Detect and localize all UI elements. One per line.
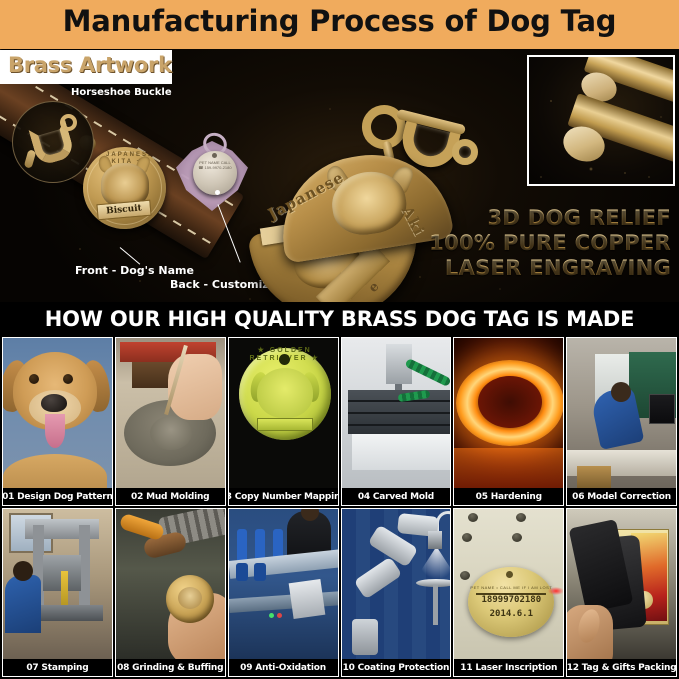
step-label: 09 Anti-Oxidation <box>229 659 338 676</box>
cutaway-brass-dog-tag: e Japanese Aki <box>252 154 448 302</box>
step-label: 06 Model Correction <box>567 488 676 505</box>
brass-artwork-label-plate: Brass Artwork <box>0 50 172 84</box>
dog-tongue <box>45 414 65 448</box>
step-label: 03 Copy Number Mapping <box>229 488 338 505</box>
step-label-text: 05 Hardening <box>476 492 542 502</box>
step-label: 12 Tag & Gifts Packing <box>567 659 676 676</box>
step-label: 07 Stamping <box>3 659 112 676</box>
step-label-text: 03 Copy Number Mapping <box>228 492 339 502</box>
step-12-photo-tag-gifts-packing <box>567 509 676 659</box>
process-step-cell: 04 Carved Mold <box>341 337 452 506</box>
spray-nozzle-head <box>428 531 442 549</box>
orange-tool-handle <box>118 513 165 542</box>
dog-nose <box>41 394 67 412</box>
3d-model-dog-face <box>257 368 313 418</box>
control-panel <box>288 579 325 619</box>
marketing-line-1: 3D DOG RELIEF <box>488 206 672 230</box>
step-label-text: 07 Stamping <box>26 663 88 673</box>
step-label-text: 12 Tag & Gifts Packing <box>567 663 677 673</box>
brass-rod-inset-photo <box>527 55 675 186</box>
engraved-phone-number: 18999702180 <box>468 595 554 605</box>
robot-base <box>352 619 378 655</box>
fixture-hole <box>462 533 472 542</box>
marketing-line-3: LASER ENGRAVING <box>445 256 671 280</box>
shackle-ring-icon <box>452 139 478 165</box>
step-label-text: 02 Mud Molding <box>131 492 209 502</box>
horseshoe-buckle-caption: Horseshoe Buckle <box>71 87 172 98</box>
brass-artwork-label: Brass Artwork <box>8 53 172 77</box>
step-10-photo-coating-protection <box>342 509 451 659</box>
step-label-text: 08 Grinding & Buffing <box>117 663 223 673</box>
step-2-photo-mud-molding <box>116 338 225 488</box>
step-label: 01 Design Dog Pattern <box>3 488 112 505</box>
status-light-green <box>269 613 274 618</box>
fixture-hole <box>468 513 478 522</box>
buckle-pin-icon <box>24 149 37 169</box>
3d-model-hole <box>279 354 290 365</box>
back-tag-leader-dot <box>215 190 220 195</box>
infographic-page: Manufacturing Process of Dog Tag Horsesh… <box>0 0 679 679</box>
engraved-date: 2014.6.1 <box>468 609 554 619</box>
fixture-hole <box>460 571 470 580</box>
step-3-photo-copy-number-mapping: ★ GOLDEN RETRIEVER ★ <box>229 338 338 488</box>
step-label: 02 Mud Molding <box>116 488 225 505</box>
status-light-red <box>277 613 282 618</box>
process-step-cell: 09 Anti-Oxidation <box>228 508 339 677</box>
process-steps-grid: 01 Design Dog Pattern 02 Mud Molding ★ G… <box>0 335 679 679</box>
step-4-photo-carved-mold <box>342 338 451 488</box>
buckle-ring-icon <box>60 114 77 131</box>
step-7-photo-stamping <box>3 509 112 659</box>
process-step-cell: PET NAME • CALL ME IF I AM LOST 18999702… <box>453 508 564 677</box>
step-label: 11 Laser Inscription <box>454 659 563 676</box>
process-step-cell: 06 Model Correction <box>566 337 677 506</box>
press-operator-head <box>13 561 33 581</box>
front-dog-tag: ★ JAPANESE AKITA ★ Biscuit <box>83 147 166 229</box>
front-tag-name-text: Biscuit <box>106 203 142 216</box>
step-1-photo-design-dog-pattern <box>3 338 112 488</box>
header-bar: Manufacturing Process of Dog Tag <box>0 0 679 49</box>
fixture-hole <box>512 533 522 542</box>
turntable-pole <box>433 585 438 625</box>
cnc-machine-base <box>352 434 451 470</box>
process-step-cell: 02 Mud Molding <box>115 337 226 506</box>
step-5-photo-hardening <box>454 338 563 488</box>
wooden-stool <box>577 466 611 488</box>
desk-monitor <box>649 394 675 424</box>
furnace-bottom-glow <box>454 448 563 488</box>
section-banner: HOW OUR HIGH QUALITY BRASS DOG TAG IS MA… <box>0 302 679 335</box>
back-tag-hole <box>212 153 217 158</box>
step-label: 08 Grinding & Buffing <box>116 659 225 676</box>
process-step-cell: 01 Design Dog Pattern <box>2 337 113 506</box>
dog-chest <box>3 454 107 488</box>
press-operator-body <box>5 575 41 633</box>
laser-beam-spot <box>548 587 563 595</box>
step-label: 10 Coating Protection <box>342 659 451 676</box>
step-label: 05 Hardening <box>454 488 563 505</box>
brass-tag-relief-face <box>178 587 202 609</box>
step-label-text: 10 Coating Protection <box>343 663 450 673</box>
step-6-photo-model-correction <box>567 338 676 488</box>
step-8-photo-grinding-buffing <box>116 509 225 659</box>
process-step-cell: ★ GOLDEN RETRIEVER ★ 03 Copy Number Mapp… <box>228 337 339 506</box>
step-label-text: 04 Carved Mold <box>358 492 434 502</box>
cnc-bed-slot <box>348 424 451 426</box>
induction-furnace-core <box>478 376 542 428</box>
process-step-cell: 12 Tag & Gifts Packing <box>566 508 677 677</box>
process-step-cell: 10 Coating Protection <box>341 508 452 677</box>
marketing-line-2: 100% PURE COPPER <box>429 231 671 255</box>
fixture-hole <box>516 513 526 522</box>
dip-nozzle <box>254 563 266 581</box>
dog-eye-right <box>63 374 73 384</box>
clay-relief-sculpt <box>150 416 192 450</box>
step-label-text: 01 Design Dog Pattern <box>2 492 113 502</box>
step-label-text: 09 Anti-Oxidation <box>240 663 326 673</box>
process-step-cell: 08 Grinding & Buffing <box>115 508 226 677</box>
step-label-text: 06 Model Correction <box>572 492 671 502</box>
horseshoe-buckle-callout <box>12 101 94 183</box>
coating-spray-cone <box>416 549 451 579</box>
robot-lower-arm <box>353 557 402 600</box>
section-banner-text: HOW OUR HIGH QUALITY BRASS DOG TAG IS MA… <box>45 307 635 331</box>
engraved-micro-text: PET NAME • CALL ME IF I AM LOST <box>468 585 554 590</box>
process-step-cell: 07 Stamping <box>2 508 113 677</box>
step-label: 04 Carved Mold <box>342 488 451 505</box>
page-title: Manufacturing Process of Dog Tag <box>0 4 679 38</box>
hero-product-photo: Horseshoe Buckle Brass Artwork ★ JAPANES… <box>0 49 679 302</box>
back-dog-tag: PET NAME CALL ☎ 159-9970-2180 <box>193 151 237 195</box>
step-11-photo-laser-inscription: PET NAME • CALL ME IF I AM LOST 18999702… <box>454 509 563 659</box>
step-label-text: 11 Laser Inscription <box>460 663 557 673</box>
cnc-bed-slot <box>348 412 451 414</box>
process-step-cell: 05 Hardening <box>453 337 564 506</box>
dip-nozzle <box>236 563 248 581</box>
back-tag-engraved-text: PET NAME CALL ☎ 159-9970-2180 <box>198 160 232 170</box>
front-tag-caption: Front - Dog's Name <box>75 264 194 277</box>
step-9-photo-anti-oxidation <box>229 509 338 659</box>
dog-eye-left <box>29 374 39 384</box>
3d-model-name-bar <box>257 418 313 431</box>
